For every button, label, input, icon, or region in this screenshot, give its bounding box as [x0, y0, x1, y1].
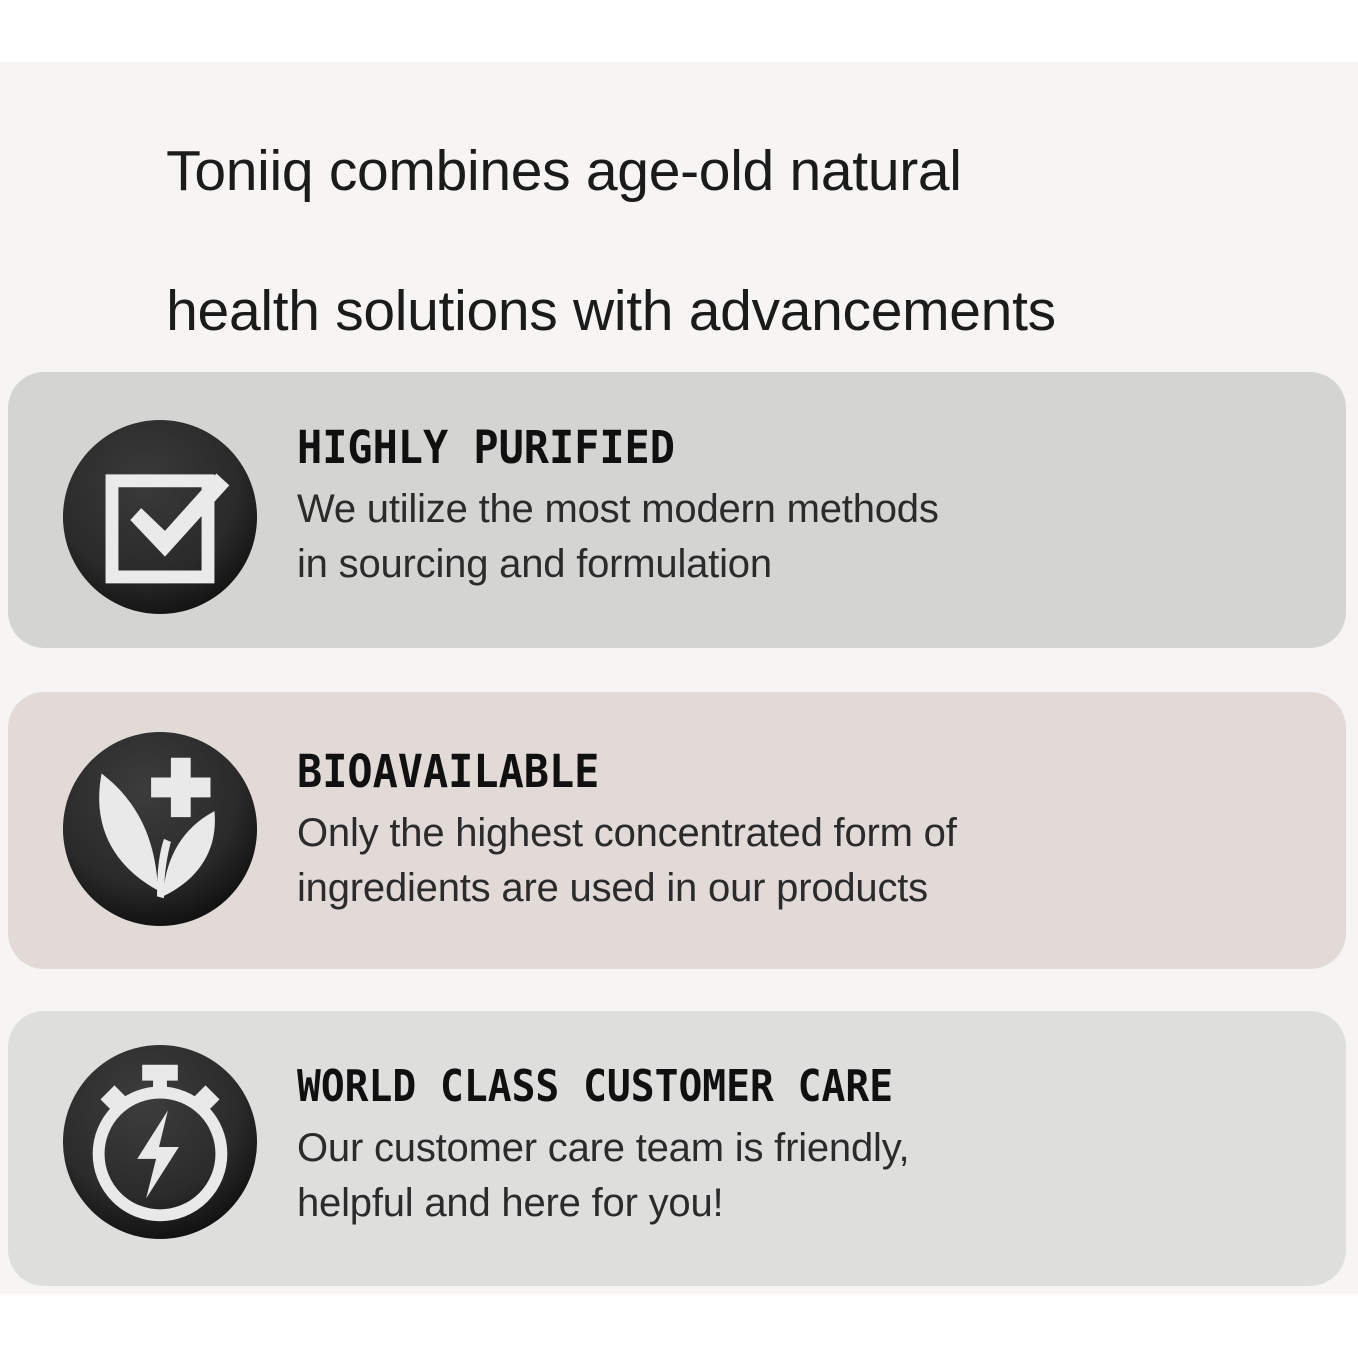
card-text-block: HIGHLY PURIFIED We utilize the most mode…	[297, 420, 1306, 592]
card-description: We utilize the most modern methods in so…	[297, 482, 1306, 592]
feature-card-bioavailable: BIOAVAILABLE Only the highest concentrat…	[8, 692, 1346, 969]
card-description: Only the highest concentrated form of in…	[297, 806, 1306, 916]
stopwatch-bolt-icon	[61, 1043, 259, 1241]
card-title: BIOAVAILABLE	[297, 744, 1235, 800]
card-text-block: BIOAVAILABLE Only the highest concentrat…	[297, 744, 1306, 916]
leaf-plus-icon	[61, 730, 259, 928]
card-title: HIGHLY PURIFIED	[297, 420, 1235, 476]
headline-line-1: Toniiq combines age-old natural	[166, 139, 962, 203]
headline-line-2: health solutions with advancements	[166, 279, 1056, 343]
card-title: WORLD CLASS CUSTOMER CARE	[297, 1059, 1205, 1115]
feature-card-customer-care: WORLD CLASS CUSTOMER CARE Our customer c…	[8, 1011, 1346, 1286]
card-text-block: WORLD CLASS CUSTOMER CARE Our customer c…	[297, 1059, 1306, 1231]
feature-card-highly-purified: HIGHLY PURIFIED We utilize the most mode…	[8, 372, 1346, 648]
infographic-page: Toniiq combines age-old natural health s…	[0, 0, 1358, 1358]
card-description: Our customer care team is friendly, help…	[297, 1121, 1306, 1231]
checkbox-check-icon	[61, 418, 259, 616]
